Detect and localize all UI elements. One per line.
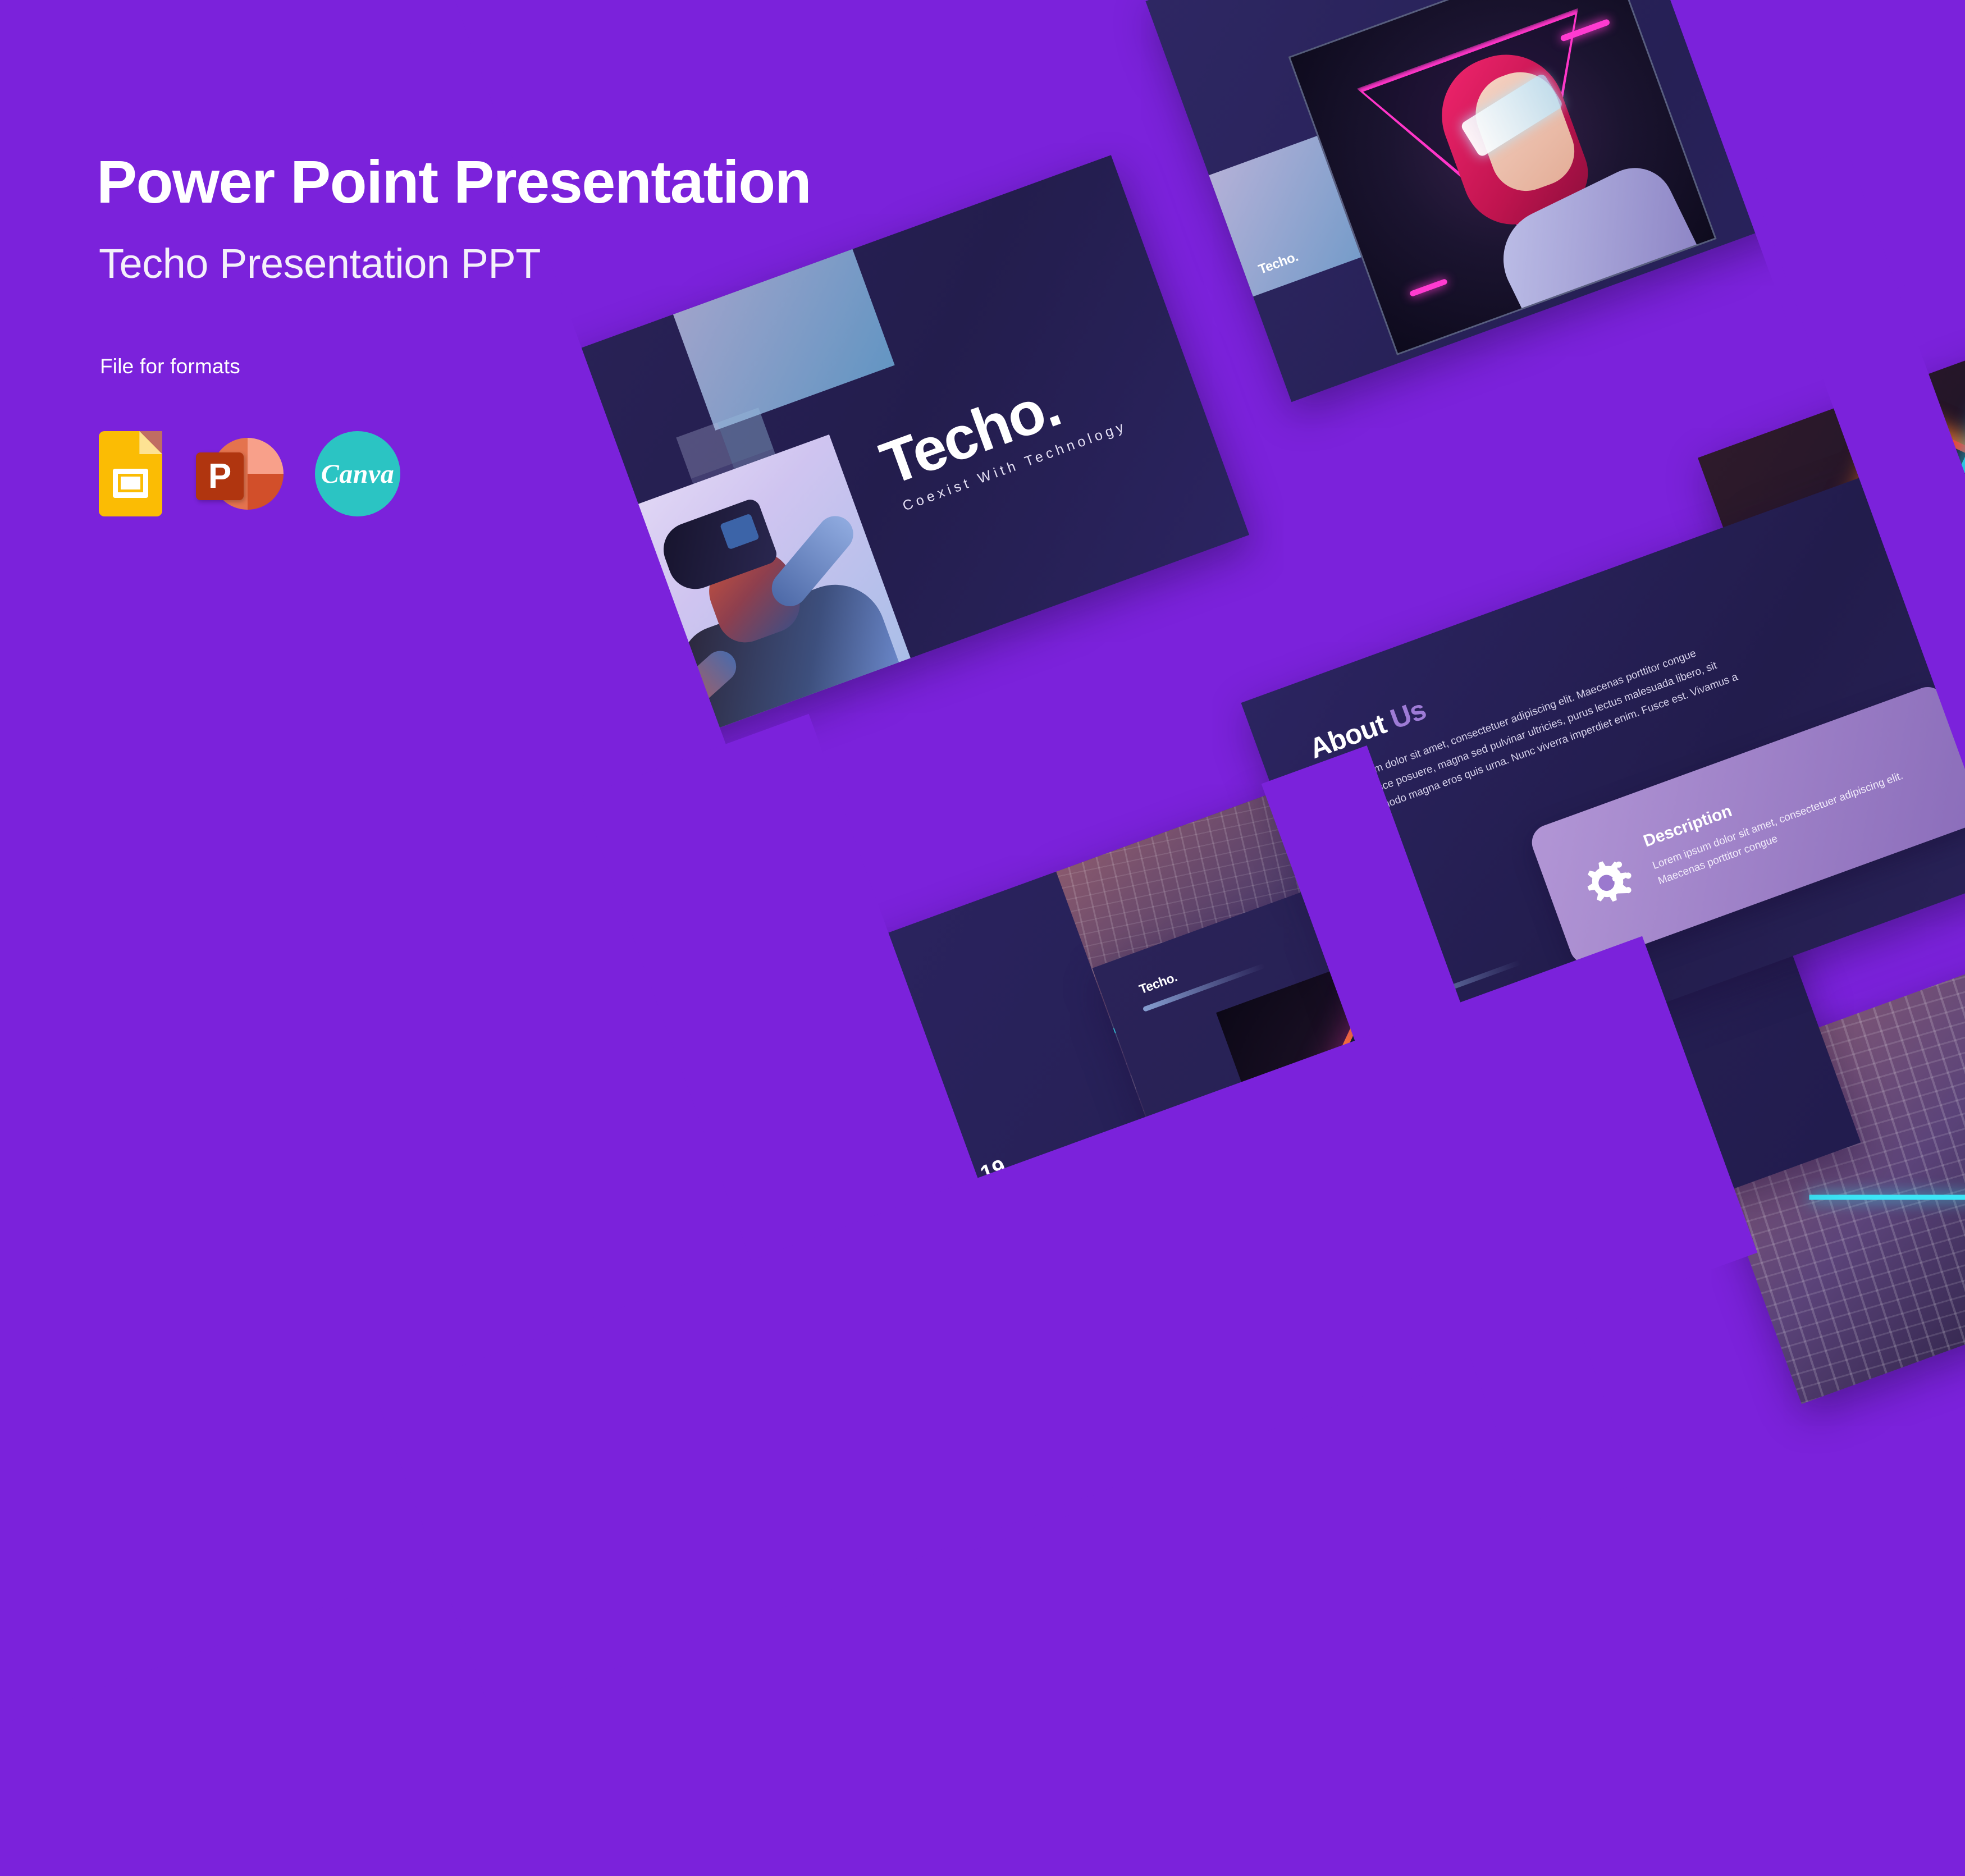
powerpoint-letter: P xyxy=(208,459,231,494)
neon-woman-photo xyxy=(1288,0,1717,355)
powerpoint-badge: P xyxy=(196,452,244,500)
page-subtitle: Techo Presentation PPT xyxy=(99,243,541,285)
slide-logo-techo: Techo. xyxy=(1256,249,1300,278)
page-title: Power Point Presentation xyxy=(97,152,811,212)
google-slides-icon[interactable] xyxy=(99,431,162,516)
gear-tech-icon xyxy=(1566,843,1646,922)
canva-wordmark: Canva xyxy=(321,459,395,489)
format-icon-row: P Canva xyxy=(99,431,400,516)
decorative-square-large xyxy=(650,186,895,431)
title-slide-logo-block: Techo. Coexist With Technology xyxy=(874,356,1129,516)
powerpoint-icon[interactable]: P xyxy=(196,431,281,516)
formats-label: File for formats xyxy=(100,355,240,378)
neon-beam xyxy=(1809,1195,1965,1200)
slide-logo-techo: Techo. xyxy=(1137,969,1179,997)
neon-strip-b xyxy=(1409,278,1448,297)
canva-icon[interactable]: Canva xyxy=(315,431,400,516)
slides-screen xyxy=(113,469,148,498)
